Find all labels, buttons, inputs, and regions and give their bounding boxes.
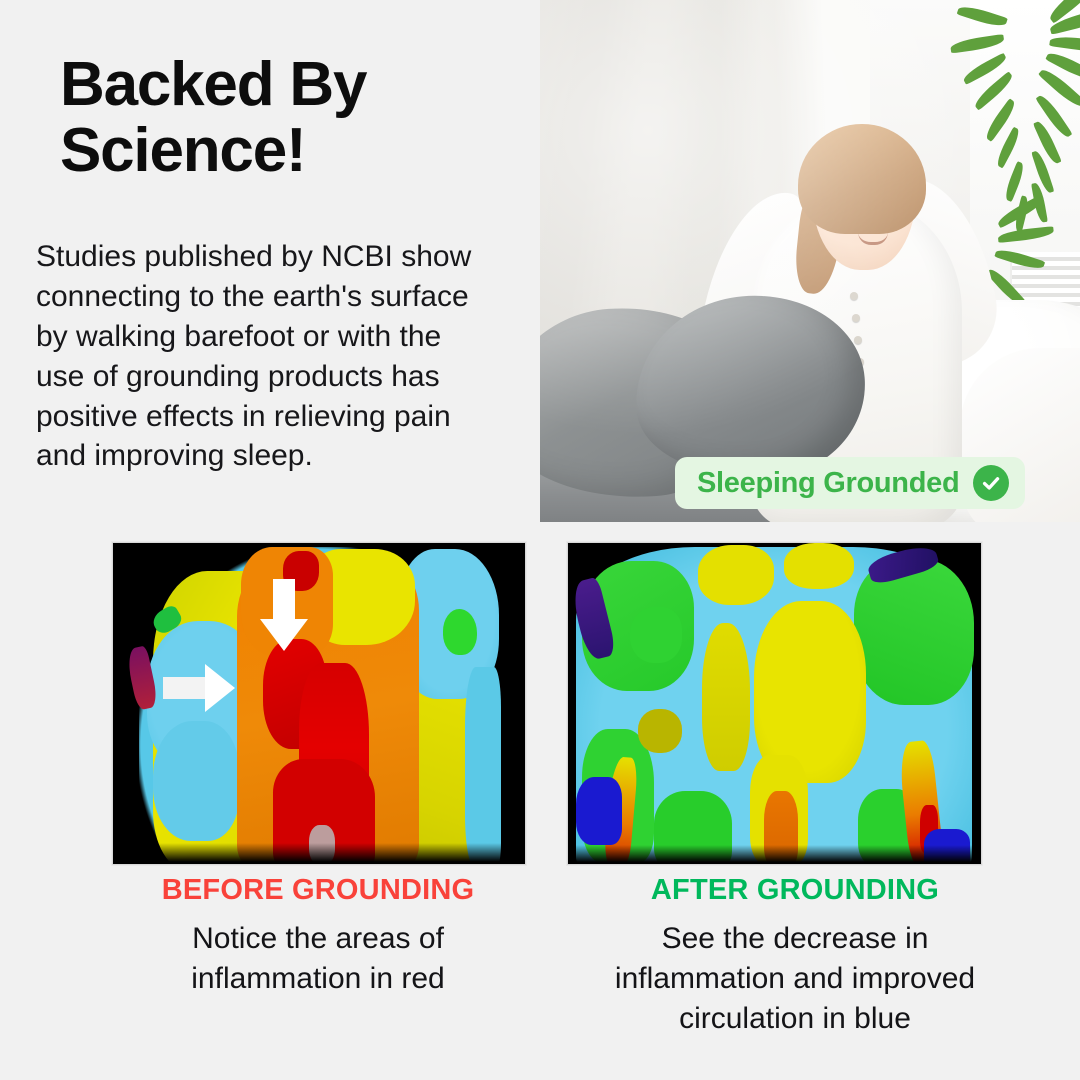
infographic-poster: Backed By Science! Studies published by …	[0, 0, 1080, 1080]
caption-after: AFTER GROUNDING See the decrease in infl…	[545, 874, 1045, 1039]
page-title: Backed By Science!	[60, 52, 530, 183]
status-badge: Sleeping Grounded	[675, 457, 1025, 509]
thermal-image-after	[567, 542, 982, 865]
check-circle-icon	[973, 465, 1009, 501]
body-paragraph: Studies published by NCBI show connectin…	[36, 237, 536, 476]
thermal-image-before	[112, 542, 526, 865]
caption-before-text: Notice the areas of inflammation in red	[88, 919, 548, 999]
hero-photo	[540, 0, 1080, 522]
caption-before-title: BEFORE GROUNDING	[88, 874, 548, 907]
caption-after-text: See the decrease in inflammation and imp…	[545, 919, 1045, 1039]
caption-before: BEFORE GROUNDING Notice the areas of inf…	[88, 874, 548, 999]
status-badge-label: Sleeping Grounded	[697, 467, 959, 500]
caption-after-title: AFTER GROUNDING	[545, 874, 1045, 907]
